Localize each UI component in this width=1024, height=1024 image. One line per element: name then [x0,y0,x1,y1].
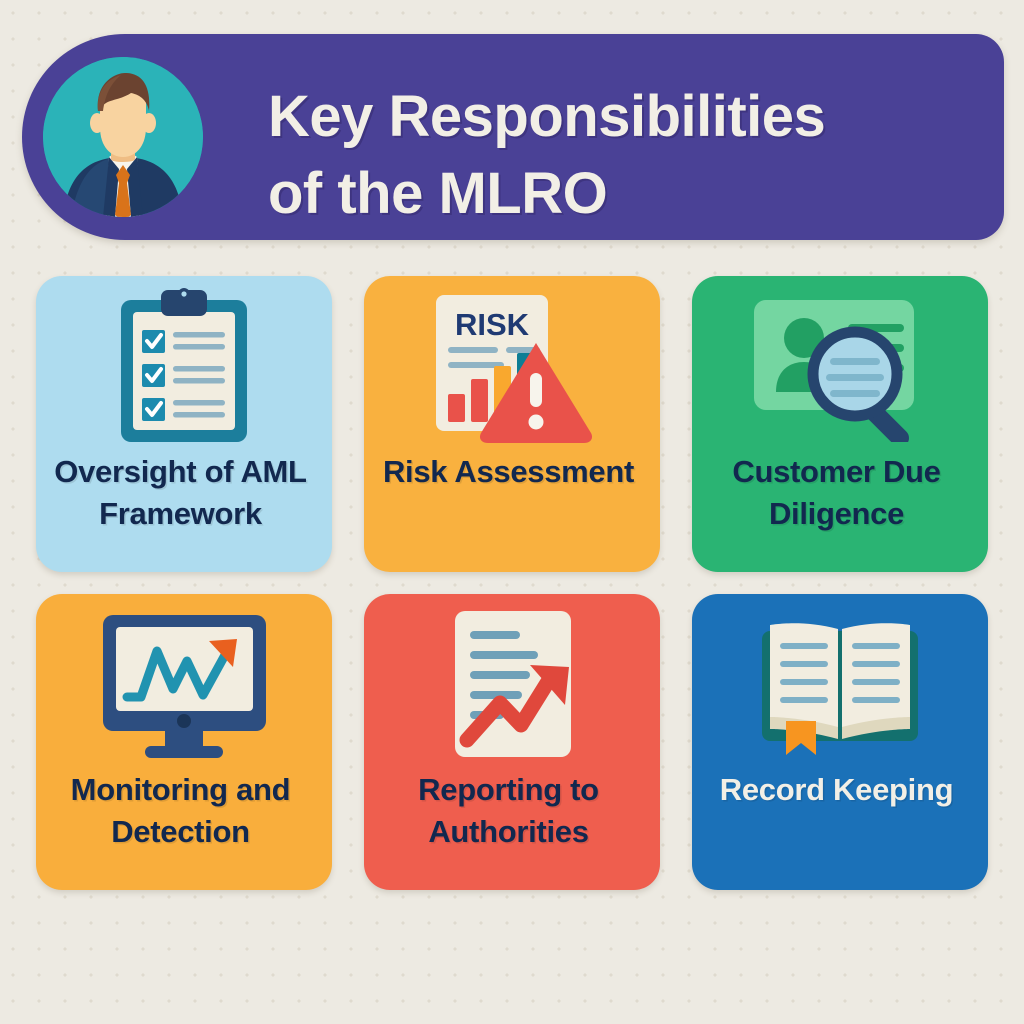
card-oversight-of-aml-framework[interactable]: Oversight of AML Framework [36,276,332,572]
card-record-keeping[interactable]: Record Keeping [692,594,988,890]
card-icon-area [364,594,660,769]
card-risk-assessment[interactable]: RISK Risk Assessment [364,276,660,572]
card-label: Risk Assessment [354,451,664,493]
card-icon-area [36,594,332,769]
risk-report-warning-icon: RISK [428,287,596,447]
card-icon-area [692,276,988,451]
monitor-trend-chart-icon [97,609,272,761]
card-label: Oversight of AML Framework [26,451,336,534]
page-title-line-2: of the MLRO [268,155,968,232]
infographic-stage: Key Responsibilities of the MLRO [0,0,1024,1024]
card-reporting-to-authorities[interactable]: Reporting to Authorities [364,594,660,890]
card-label: Record Keeping [682,769,992,811]
document-rising-arrow-icon [437,605,587,765]
card-customer-due-diligence[interactable]: Customer Due Diligence [692,276,988,572]
card-icon-area: RISK [364,276,660,451]
card-label: Reporting to Authorities [354,769,664,852]
header-banner: Key Responsibilities of the MLRO [22,34,1004,240]
card-monitoring-and-detection[interactable]: Monitoring and Detection [36,594,332,890]
clipboard-checklist-icon [109,284,259,449]
card-icon-area [692,594,988,769]
open-book-bookmark-icon [750,609,930,761]
page-title: Key Responsibilities of the MLRO [268,78,968,232]
risk-heading-text: RISK [455,307,530,342]
businessman-avatar-icon [43,57,203,217]
card-icon-area [36,276,332,451]
card-label: Customer Due Diligence [682,451,992,534]
responsibility-card-grid: Oversight of AML Framework RISK [36,276,988,890]
card-label: Monitoring and Detection [26,769,336,852]
id-card-magnifier-icon [748,292,933,442]
page-title-line-1: Key Responsibilities [268,78,968,155]
